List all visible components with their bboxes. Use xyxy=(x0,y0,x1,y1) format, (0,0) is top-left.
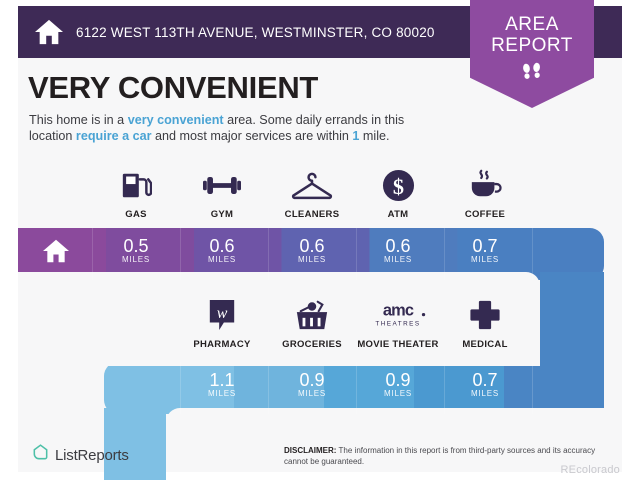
svg-text:w: w xyxy=(217,305,228,322)
distance-medical: 0.7 MILES xyxy=(437,370,533,398)
badge-title: AREA REPORT xyxy=(470,0,594,56)
distance-unit: MILES xyxy=(350,255,446,264)
svg-text:THEATRES: THEATRES xyxy=(375,320,420,327)
disclaimer-label: DISCLAIMER: xyxy=(284,446,336,455)
coffee-cup-icon xyxy=(437,166,533,204)
category-cleaners: CLEANERS xyxy=(264,166,360,220)
distance-gas: 0.5 MILES xyxy=(88,236,184,264)
badge-line-1: AREA xyxy=(470,14,594,35)
summary-highlight-2: require a car xyxy=(76,129,152,143)
category-coffee: COFFEE xyxy=(437,166,533,220)
category-atm: $ ATM xyxy=(350,166,446,220)
distance-unit: MILES xyxy=(88,255,184,264)
listreports-wordmark: ListReports xyxy=(55,447,129,464)
distance-groceries: 0.9 MILES xyxy=(264,370,360,398)
distance-value: 0.5 xyxy=(88,236,184,256)
distance-coffee: 0.7 MILES xyxy=(437,236,533,264)
category-gym: GYM xyxy=(174,166,270,220)
dollar-coin-icon: $ xyxy=(350,166,446,204)
area-report-infographic: 6122 WEST 113TH AVENUE, WESTMINSTER, CO … xyxy=(0,0,640,480)
distance-value: 0.9 xyxy=(264,370,360,390)
distance-unit: MILES xyxy=(437,389,533,398)
category-movie-theater: amc THEATRES MOVIE THEATER xyxy=(350,296,446,350)
distance-value: 0.6 xyxy=(174,236,270,256)
property-address: 6122 WEST 113TH AVENUE, WESTMINSTER, CO … xyxy=(76,25,435,40)
summary-part-1: This home is in a xyxy=(29,113,128,127)
category-label: PHARMACY xyxy=(174,339,270,350)
category-label: MOVIE THEATER xyxy=(350,339,446,350)
summary-highlight-1: very convenient xyxy=(128,113,224,127)
category-groceries: GROCERIES xyxy=(264,296,360,350)
distance-unit: MILES xyxy=(174,255,270,264)
grocery-basket-icon xyxy=(264,296,360,334)
category-pharmacy: w PHARMACY xyxy=(174,296,270,350)
recolorado-watermark: REcolorado xyxy=(561,464,620,476)
header-address-bar: 6122 WEST 113TH AVENUE, WESTMINSTER, CO … xyxy=(18,6,440,58)
badge-line-2: REPORT xyxy=(470,35,594,56)
disclaimer: DISCLAIMER: The information in this repo… xyxy=(284,446,604,467)
distance-gym: 0.6 MILES xyxy=(174,236,270,264)
walgreens-w-icon: w xyxy=(174,296,270,334)
listreports-house-icon xyxy=(32,444,49,466)
distance-unit: MILES xyxy=(174,389,270,398)
distance-unit: MILES xyxy=(350,389,446,398)
medical-cross-icon xyxy=(437,296,533,334)
svg-text:$: $ xyxy=(392,173,403,198)
distance-value: 0.6 xyxy=(264,236,360,256)
distance-value: 1.1 xyxy=(174,370,270,390)
category-label: GROCERIES xyxy=(264,339,360,350)
category-label: ATM xyxy=(350,209,446,220)
summary-text: This home is in a very convenient area. … xyxy=(29,112,449,144)
category-label: CLEANERS xyxy=(264,209,360,220)
distance-pharmacy: 1.1 MILES xyxy=(174,370,270,398)
distance-value: 0.6 xyxy=(350,236,446,256)
category-medical: MEDICAL xyxy=(437,296,533,350)
distance-band-connector xyxy=(540,272,604,372)
category-label: COFFEE xyxy=(437,209,533,220)
summary-part-3: and most major services are within xyxy=(152,129,353,143)
distance-atm: 0.6 MILES xyxy=(350,236,446,264)
amc-theatres-icon: amc THEATRES xyxy=(350,296,446,334)
hanger-icon xyxy=(264,166,360,204)
distance-unit: MILES xyxy=(264,255,360,264)
distance-value: 0.7 xyxy=(437,370,533,390)
category-gas: GAS xyxy=(88,166,184,220)
distance-value: 0.9 xyxy=(350,370,446,390)
home-icon xyxy=(34,18,64,46)
distance-cleaners: 0.6 MILES xyxy=(264,236,360,264)
category-label: GAS xyxy=(88,209,184,220)
distance-unit: MILES xyxy=(264,389,360,398)
dumbbell-icon xyxy=(174,166,270,204)
page-title: VERY CONVENIENT xyxy=(28,70,318,106)
gas-pump-icon xyxy=(88,166,184,204)
listreports-logo: ListReports xyxy=(32,444,129,466)
summary-part-4: mile. xyxy=(359,129,389,143)
footprints-icon xyxy=(470,60,594,84)
distance-movie-theater: 0.9 MILES xyxy=(350,370,446,398)
category-label: GYM xyxy=(174,209,270,220)
svg-text:amc: amc xyxy=(383,301,414,319)
distance-value: 0.7 xyxy=(437,236,533,256)
category-label: MEDICAL xyxy=(437,339,533,350)
distance-unit: MILES xyxy=(437,255,533,264)
